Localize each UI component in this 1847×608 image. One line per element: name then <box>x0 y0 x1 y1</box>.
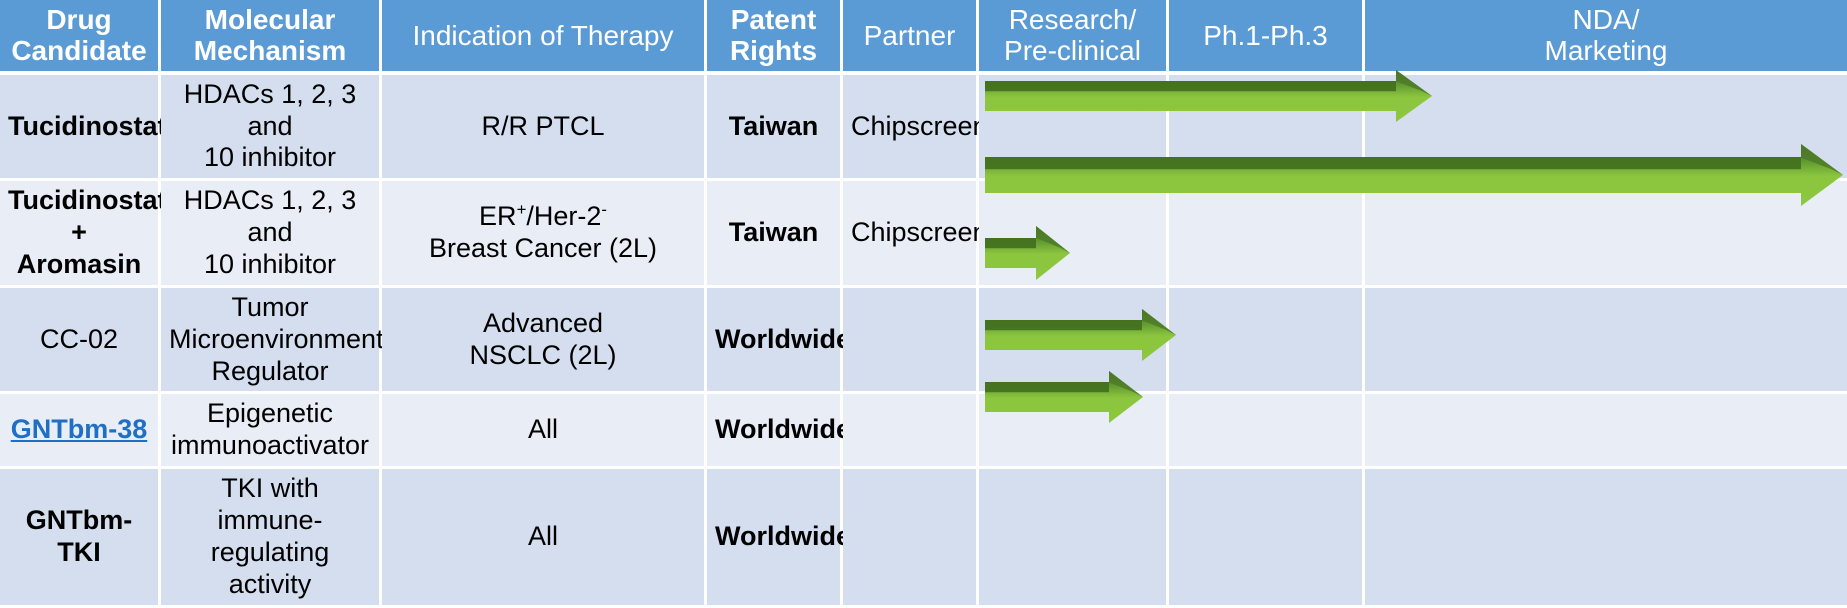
indication-line: NSCLC (2L) <box>469 340 616 370</box>
cell-phase-research <box>979 469 1169 607</box>
cell-indication: All <box>382 469 707 607</box>
cell-phase-research <box>979 394 1169 469</box>
indication-line-biomarker: ER+/Her-2- <box>479 201 607 231</box>
header-line: Rights <box>730 35 817 66</box>
cell-phase-ph1-ph3 <box>1169 394 1365 469</box>
cell-phase-research <box>979 75 1169 182</box>
cell-phase-ph1-ph3 <box>1169 75 1365 182</box>
cell-patent-rights: Taiwan <box>707 75 843 182</box>
column-header-molecular-mechanism[interactable]: Molecular Mechanism <box>161 0 382 75</box>
header-row: Drug Candidate Molecular Mechanism Indic… <box>0 0 1847 75</box>
column-header-research-preclinical[interactable]: Research/ Pre-clinical <box>979 0 1169 75</box>
mechanism-line: 10 inhibitor <box>204 142 336 172</box>
cell-indication: Advanced NSCLC (2L) <box>382 288 707 395</box>
cell-partner <box>843 469 979 607</box>
biomarker-er: ER <box>479 201 517 231</box>
header-line: Candidate <box>11 35 146 66</box>
cell-phase-ph1-ph3 <box>1169 469 1365 607</box>
superscript-minus: - <box>601 200 607 219</box>
cell-molecular-mechanism: HDACs 1, 2, 3 and 10 inhibitor <box>161 75 382 182</box>
table-header: Drug Candidate Molecular Mechanism Indic… <box>0 0 1847 75</box>
drug-line: Aromasin <box>17 249 142 279</box>
mechanism-line: Regulator <box>211 356 328 386</box>
cell-drug-candidate: CC-02 <box>0 288 161 395</box>
header-line: Ph.1-Ph.3 <box>1203 20 1328 51</box>
header-line: Partner <box>864 20 956 51</box>
drug-pipeline-table: Drug Candidate Molecular Mechanism Indic… <box>0 0 1847 608</box>
cell-patent-rights: Worldwide <box>707 469 843 607</box>
cell-phase-ph1-ph3 <box>1169 181 1365 288</box>
header-line: Pre-clinical <box>1004 35 1141 66</box>
table-row[interactable]: CC-02 Tumor Microenvironment Regulator A… <box>0 288 1847 395</box>
cell-phase-nda <box>1365 394 1847 469</box>
cell-indication: ER+/Her-2- Breast Cancer (2L) <box>382 181 707 288</box>
cell-phase-nda <box>1365 75 1847 182</box>
indication-line: R/R PTCL <box>481 111 604 141</box>
table-row[interactable]: Tucidinostat HDACs 1, 2, 3 and 10 inhibi… <box>0 75 1847 182</box>
mechanism-line: TKI with immune- <box>217 473 322 535</box>
cell-phase-research <box>979 288 1169 395</box>
column-header-drug-candidate[interactable]: Drug Candidate <box>0 0 161 75</box>
mechanism-line: HDACs 1, 2, 3 and <box>184 185 357 247</box>
cell-phase-nda <box>1365 181 1847 288</box>
cell-phase-nda <box>1365 469 1847 607</box>
cell-partner: Chipscreen <box>843 75 979 182</box>
cell-drug-candidate: Tucidinostat <box>0 75 161 182</box>
indication-line: All <box>528 414 558 444</box>
header-line: Marketing <box>1545 35 1668 66</box>
biomarker-her2: /Her-2 <box>526 201 601 231</box>
header-line: Mechanism <box>194 35 347 66</box>
table-row[interactable]: GNTbm-38 Epigenetic immunoactivator All … <box>0 394 1847 469</box>
table-row[interactable]: Tucidinostat + Aromasin HDACs 1, 2, 3 an… <box>0 181 1847 288</box>
table-row[interactable]: GNTbm-TKI TKI with immune- regulating ac… <box>0 469 1847 607</box>
cell-molecular-mechanism: TKI with immune- regulating activity <box>161 469 382 607</box>
cell-phase-ph1-ph3 <box>1169 288 1365 395</box>
indication-line: Advanced <box>483 308 603 338</box>
drug-line: Tucidinostat <box>8 185 167 215</box>
cell-partner: Chipscreen <box>843 181 979 288</box>
mechanism-line: Microenvironment <box>169 324 384 354</box>
cell-drug-candidate: Tucidinostat + Aromasin <box>0 181 161 288</box>
header-line: NDA/ <box>1573 4 1640 35</box>
cell-partner <box>843 288 979 395</box>
header-line: Indication of Therapy <box>413 20 674 51</box>
superscript-plus: + <box>517 200 527 219</box>
cell-phase-research <box>979 181 1169 288</box>
indication-line: Breast Cancer (2L) <box>429 233 657 263</box>
mechanism-line: immunoactivator <box>171 430 369 460</box>
drug-line: + <box>71 217 87 247</box>
cell-indication: R/R PTCL <box>382 75 707 182</box>
header-line: Research/ <box>1009 4 1137 35</box>
mechanism-line: HDACs 1, 2, 3 and <box>184 79 357 141</box>
cell-patent-rights: Taiwan <box>707 181 843 288</box>
indication-line: All <box>528 521 558 551</box>
cell-indication: All <box>382 394 707 469</box>
column-header-nda-marketing[interactable]: NDA/ Marketing <box>1365 0 1847 75</box>
cell-phase-nda <box>1365 288 1847 395</box>
mechanism-line: Tumor <box>231 292 308 322</box>
pipeline-table-container: Drug Candidate Molecular Mechanism Indic… <box>0 0 1847 514</box>
cell-molecular-mechanism: Tumor Microenvironment Regulator <box>161 288 382 395</box>
header-line: Molecular <box>205 4 336 35</box>
column-header-indication-of-therapy[interactable]: Indication of Therapy <box>382 0 707 75</box>
cell-drug-candidate: GNTbm-TKI <box>0 469 161 607</box>
header-line: Patent <box>731 4 817 35</box>
drug-candidate-link[interactable]: GNTbm-38 <box>11 414 148 444</box>
mechanism-line: regulating activity <box>211 537 330 599</box>
table-body: Tucidinostat HDACs 1, 2, 3 and 10 inhibi… <box>0 75 1847 608</box>
mechanism-line: 10 inhibitor <box>204 249 336 279</box>
mechanism-line: Epigenetic <box>207 398 333 428</box>
header-line: Drug <box>46 4 111 35</box>
cell-partner <box>843 394 979 469</box>
cell-molecular-mechanism: Epigenetic immunoactivator <box>161 394 382 469</box>
column-header-partner[interactable]: Partner <box>843 0 979 75</box>
column-header-ph1-ph3[interactable]: Ph.1-Ph.3 <box>1169 0 1365 75</box>
column-header-patent-rights[interactable]: Patent Rights <box>707 0 843 75</box>
cell-drug-candidate: GNTbm-38 <box>0 394 161 469</box>
cell-patent-rights: Worldwide <box>707 288 843 395</box>
cell-patent-rights: Worldwide <box>707 394 843 469</box>
cell-molecular-mechanism: HDACs 1, 2, 3 and 10 inhibitor <box>161 181 382 288</box>
